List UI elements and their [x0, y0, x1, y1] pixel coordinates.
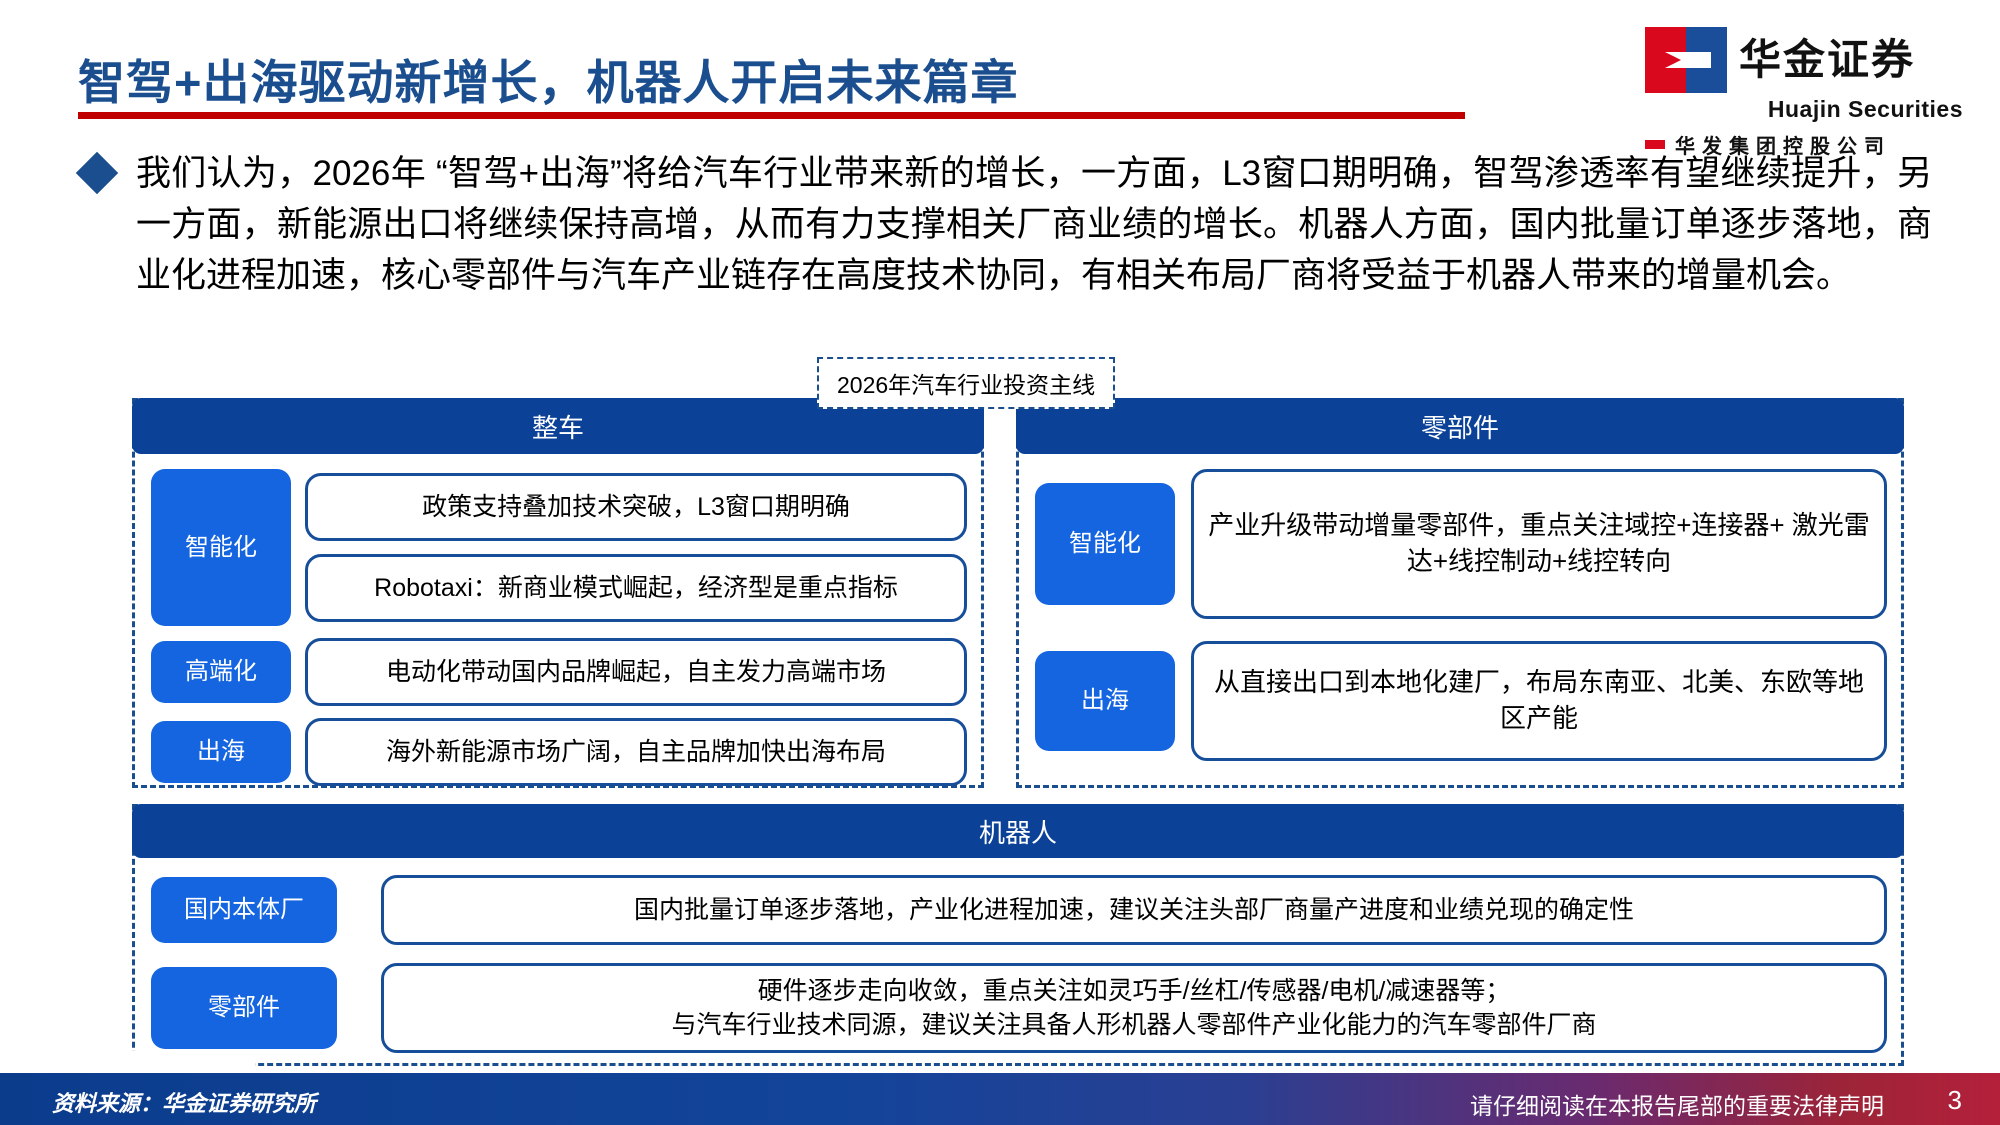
- footer-corner-gap: [0, 1051, 255, 1073]
- panel-row: 智能化 政策支持叠加技术突破，L3窗口期明确 Robotaxi：新商业模式崛起，…: [151, 469, 967, 626]
- category-tag[interactable]: 出海: [151, 721, 291, 783]
- summary-text: 我们认为，2026年 “智驾+出海”将给汽车行业带来新的增长，一方面，L3窗口期…: [136, 148, 1932, 301]
- detail-chip[interactable]: 政策支持叠加技术突破，L3窗口期明确: [305, 473, 967, 541]
- panel-vehicle: 整车 智能化 政策支持叠加技术突破，L3窗口期明确 Robotaxi：新商业模式…: [132, 398, 984, 788]
- logo-company-cn: 华金证券: [1739, 39, 1915, 81]
- detail-chip[interactable]: 从直接出口到本地化建厂，布局东南亚、北美、东欧等地区产能: [1191, 641, 1887, 761]
- huajin-mark-icon: [1645, 27, 1727, 93]
- panel-row: 国内本体厂 国内批量订单逐步落地，产业化进程加速，建议关注头部厂商量产进度和业绩…: [151, 875, 1887, 945]
- panel-row: 出海 从直接出口到本地化建厂，布局东南亚、北美、东欧等地区产能: [1035, 641, 1887, 761]
- detail-chip[interactable]: 电动化带动国内品牌崛起，自主发力高端市场: [305, 638, 967, 706]
- detail-chip[interactable]: 海外新能源市场广阔，自主品牌加快出海布局: [305, 718, 967, 786]
- logo-company-en: Huajin Securities: [1645, 96, 1965, 123]
- panel-parts-title: 零部件: [1016, 398, 1904, 454]
- category-tag[interactable]: 国内本体厂: [151, 877, 337, 943]
- panel-row: 零部件 硬件逐步走向收敛，重点关注如灵巧手/丝杠/传感器/电机/减速器等； 与汽…: [151, 963, 1887, 1053]
- category-tag[interactable]: 智能化: [151, 469, 291, 626]
- detail-chip[interactable]: Robotaxi：新商业模式崛起，经济型是重点指标: [305, 554, 967, 622]
- category-tag[interactable]: 高端化: [151, 641, 291, 703]
- panel-row: 高端化 电动化带动国内品牌崛起，自主发力高端市场: [151, 638, 967, 706]
- footer-source: 资料来源：华金证券研究所: [52, 1086, 316, 1118]
- panel-robot: 机器人 国内本体厂 国内批量订单逐步落地，产业化进程加速，建议关注头部厂商量产进…: [132, 804, 1904, 1066]
- category-tag[interactable]: 智能化: [1035, 483, 1175, 605]
- panel-row: 智能化 产业升级带动增量零部件，重点关注域控+连接器+ 激光雷达+线控制动+线控…: [1035, 469, 1887, 619]
- company-logo: 华金证券 Huajin Securities 华发集团控股公司: [1645, 26, 1965, 138]
- detail-chip[interactable]: 硬件逐步走向收敛，重点关注如灵巧手/丝杠/传感器/电机/减速器等； 与汽车行业技…: [381, 963, 1887, 1053]
- category-tag[interactable]: 零部件: [151, 967, 337, 1049]
- title-underline-rule: [78, 112, 1465, 119]
- footer-disclaimer: 请仔细阅读在本报告尾部的重要法律声明: [1470, 1087, 1884, 1121]
- panel-robot-body: 国内本体厂 国内批量订单逐步落地，产业化进程加速，建议关注头部厂商量产进度和业绩…: [135, 861, 1901, 1063]
- panel-vehicle-body: 智能化 政策支持叠加技术突破，L3窗口期明确 Robotaxi：新商业模式崛起，…: [135, 457, 981, 785]
- footer-bar: 资料来源：华金证券研究所 请仔细阅读在本报告尾部的重要法律声明 3: [0, 1073, 2000, 1125]
- diagram-caption: 2026年汽车行业投资主线: [817, 357, 1115, 409]
- logo-primary-row: 华金证券: [1645, 26, 1965, 94]
- panel-row: 出海 海外新能源市场广阔，自主品牌加快出海布局: [151, 718, 967, 786]
- summary-block: 我们认为，2026年 “智驾+出海”将给汽车行业带来新的增长，一方面，L3窗口期…: [82, 148, 1932, 301]
- category-tag[interactable]: 出海: [1035, 651, 1175, 751]
- panel-robot-title: 机器人: [132, 804, 1904, 858]
- panel-parts-body: 智能化 产业升级带动增量零部件，重点关注域控+连接器+ 激光雷达+线控制动+线控…: [1019, 457, 1901, 785]
- panel-parts: 零部件 智能化 产业升级带动增量零部件，重点关注域控+连接器+ 激光雷达+线控制…: [1016, 398, 1904, 788]
- page-title: 智驾+出海驱动新增长，机器人开启未来篇章: [78, 44, 1318, 113]
- detail-chip[interactable]: 产业升级带动增量零部件，重点关注域控+连接器+ 激光雷达+线控制动+线控转向: [1191, 469, 1887, 619]
- page-number: 3: [1948, 1085, 1962, 1116]
- detail-chip[interactable]: 国内批量订单逐步落地，产业化进程加速，建议关注头部厂商量产进度和业绩兑现的确定性: [381, 875, 1887, 945]
- diamond-bullet-icon: [76, 152, 118, 194]
